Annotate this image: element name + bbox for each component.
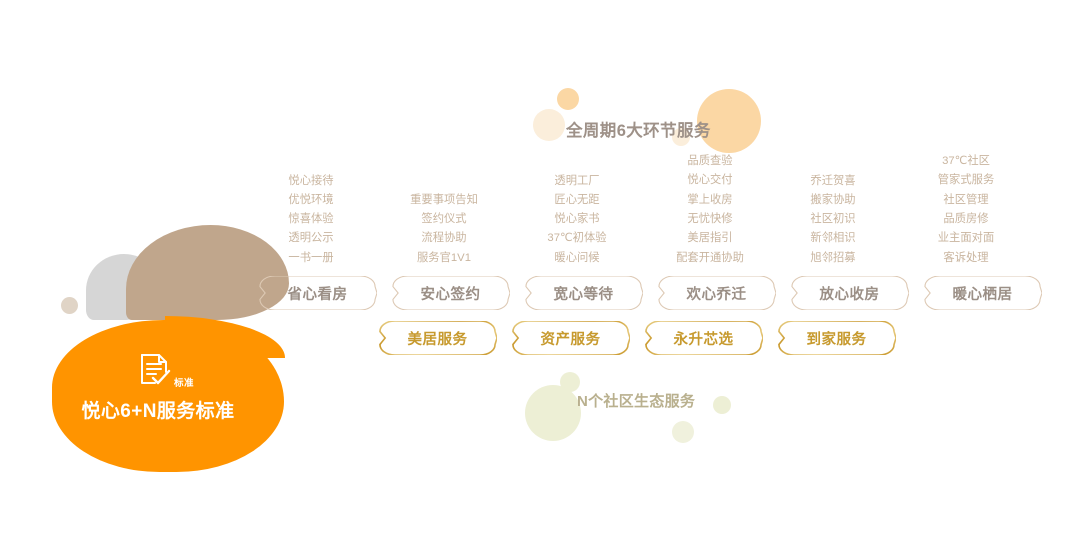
brand-icon-row: 标准 — [52, 352, 264, 394]
capsule-label: 宽心等待 — [554, 283, 614, 304]
service-item: 管家式服务 — [891, 171, 1041, 190]
service-item: 流程协助 — [369, 229, 519, 248]
service-item: 业主面对面 — [891, 229, 1041, 248]
service-item: 新邻相识 — [758, 229, 908, 248]
service-item: 37℃社区 — [891, 152, 1041, 171]
service-item: 优悦环境 — [236, 191, 386, 210]
service-item: 一书一册 — [236, 249, 386, 268]
service-column-6: 37℃社区管家式服务社区管理品质房修业主面对面客诉处理 — [891, 152, 1041, 268]
service-column-5: 乔迁贺喜搬家协助社区初识新邻相识旭邻招募 — [758, 172, 908, 268]
service-item: 暖心问候 — [502, 249, 652, 268]
service-item: 客诉处理 — [891, 249, 1041, 268]
capsule-label: 暖心栖居 — [953, 283, 1013, 304]
service-item: 社区管理 — [891, 191, 1041, 210]
service-item: 悦心接待 — [236, 172, 386, 191]
service-item: 重要事项告知 — [369, 191, 519, 210]
decorative-circle-olive-tiny — [672, 421, 694, 443]
service-capsule[interactable]: 资产服务 — [511, 321, 630, 355]
service-column-2: 重要事项告知签约仪式流程协助服务官1V1 — [369, 191, 519, 268]
brand-icon-badge-label: 标准 — [174, 375, 194, 389]
heading-bottom: N个社区生态服务 — [577, 390, 695, 411]
service-item: 签约仪式 — [369, 210, 519, 229]
capsule-label: 资产服务 — [541, 328, 601, 349]
capsule-label: 省心看房 — [288, 283, 348, 304]
capsule-label: 欢心乔迁 — [687, 283, 747, 304]
decorative-circle-olive-large — [525, 385, 581, 441]
service-item: 透明工厂 — [502, 172, 652, 191]
service-item: 惊喜体验 — [236, 210, 386, 229]
service-item: 社区初识 — [758, 210, 908, 229]
capsule-label: 到家服务 — [807, 328, 867, 349]
service-item: 匠心无距 — [502, 191, 652, 210]
service-capsule[interactable]: 永升芯选 — [644, 321, 763, 355]
stage-capsule[interactable]: 放心收房 — [790, 276, 909, 310]
brand-title: 悦心6+N服务标准 — [52, 396, 264, 423]
service-column-1: 悦心接待优悦环境惊喜体验透明公示一书一册 — [236, 172, 386, 268]
service-item: 悦心家书 — [502, 210, 652, 229]
service-capsule[interactable]: 到家服务 — [777, 321, 896, 355]
service-column-3: 透明工厂匠心无距悦心家书37℃初体验暖心问候 — [502, 172, 652, 268]
stage-capsule[interactable]: 省心看房 — [258, 276, 377, 310]
service-item: 品质房修 — [891, 210, 1041, 229]
stage-capsule[interactable]: 安心签约 — [391, 276, 510, 310]
capsule-label: 美居服务 — [408, 328, 468, 349]
stage-capsule[interactable]: 宽心等待 — [524, 276, 643, 310]
service-item: 透明公示 — [236, 229, 386, 248]
decorative-dot-beige — [61, 297, 78, 314]
service-item: 品质查验 — [635, 152, 785, 171]
service-item: 旭邻招募 — [758, 249, 908, 268]
decorative-circle-olive-right — [713, 396, 731, 414]
capsule-label: 安心签约 — [421, 283, 481, 304]
service-item: 乔迁贺喜 — [758, 172, 908, 191]
decorative-circle-cream — [533, 109, 565, 141]
document-check-icon — [138, 352, 172, 393]
stage-capsule[interactable]: 暖心栖居 — [923, 276, 1042, 310]
stage-capsule[interactable]: 欢心乔迁 — [657, 276, 776, 310]
service-capsule-row: 美居服务资产服务永升芯选到家服务 — [378, 321, 896, 365]
heading-top: 全周期6大环节服务 — [566, 117, 711, 141]
service-item: 搬家协助 — [758, 191, 908, 210]
decorative-circle-peach-small — [557, 88, 579, 110]
capsule-label: 永升芯选 — [674, 328, 734, 349]
service-item: 37℃初体验 — [502, 229, 652, 248]
service-item: 服务官1V1 — [369, 249, 519, 268]
capsule-label: 放心收房 — [820, 283, 880, 304]
brand-block: 标准 悦心6+N服务标准 — [52, 352, 264, 423]
infographic-stage: 全周期6大环节服务 N个社区生态服务 标准 悦心6+N服务标准 悦心接待优悦环境… — [0, 0, 1080, 552]
stage-capsule-row: 省心看房安心签约宽心等待欢心乔迁放心收房暖心栖居 — [258, 276, 1042, 320]
service-capsule[interactable]: 美居服务 — [378, 321, 497, 355]
